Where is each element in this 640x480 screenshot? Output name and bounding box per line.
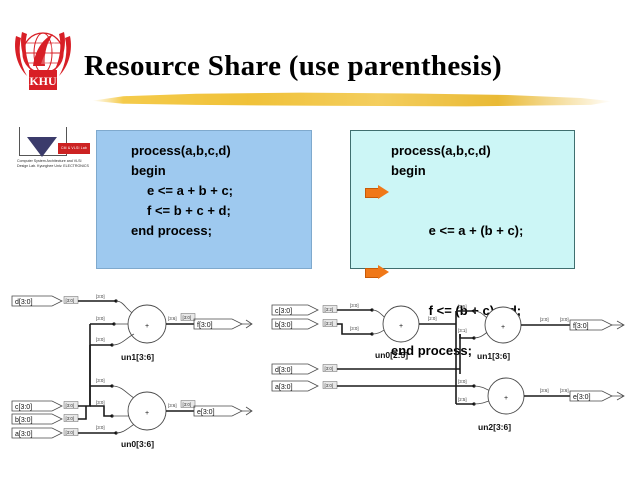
port-d: d[3:0] (12, 296, 62, 306)
adder-label: un1[3:6] (121, 352, 154, 362)
schematic-before: .wire{stroke:#1a1a1a;stroke-width:1.6;fi… (8, 288, 258, 460)
bus-label: [3:0] (66, 416, 75, 421)
code-line: process(a,b,c,d) (351, 141, 574, 161)
port-d: d[3:0] (272, 364, 318, 374)
code-line: begin (97, 161, 311, 181)
bus-label: [2:0] (428, 316, 437, 321)
bus-label: [3:6] (168, 403, 177, 408)
page-title: Resource Share (use parenthesis) (84, 50, 502, 83)
port-b: b[3:0] (272, 319, 318, 329)
adder-symbol: + (501, 324, 505, 331)
port-c: c[3:0] (272, 305, 318, 315)
bus-label: [3:2] (325, 321, 334, 326)
port-label: b[3:0] (15, 417, 33, 424)
port-f: f[3:0] (194, 319, 252, 329)
orange-arrow-icon (365, 185, 391, 198)
lab-logo-badge: CM & VLSI Lab (58, 143, 90, 154)
port-label: b[3:0] (275, 322, 293, 329)
bus-label: [3:0] (96, 400, 105, 405)
bus-label: [3:0] (560, 317, 569, 322)
port-f: f[3:0] (570, 320, 624, 330)
port-label: d[3:0] (275, 367, 293, 374)
port-label: f[3:0] (573, 323, 589, 330)
port-c: c[3:0] (12, 401, 62, 411)
orange-arrow-icon (365, 265, 391, 278)
adder-un2: + (488, 378, 524, 414)
adder-label: un1[3:6] (477, 351, 510, 361)
code-line: begin (351, 161, 574, 181)
bus-label: [3:0] (96, 316, 105, 321)
bus-label: [3:6] (540, 388, 549, 393)
adder-symbol: + (399, 323, 403, 330)
bus-label: [3:0] (66, 298, 75, 303)
adder-label: un2[3:6] (478, 422, 511, 432)
port-label: d[3:0] (15, 299, 33, 306)
port-label: e[3:0] (197, 409, 215, 416)
code-box-before: process(a,b,c,d) begin e <= a + b + c; f… (96, 130, 312, 269)
bus-label: [3:0] (183, 402, 192, 407)
bus-label: [2:5] (458, 304, 467, 309)
bus-label: [3:0] (96, 425, 105, 430)
adder-un1: + (485, 307, 521, 343)
lab-logo: CM & VLSI Lab Computer System Architectu… (17, 126, 91, 178)
bus-label: [2:0] (540, 317, 549, 322)
bus-label: [3:0] (458, 379, 467, 384)
bus-label: [3:0] (350, 303, 359, 308)
bus-label: [3:0] (350, 326, 359, 331)
adder-symbol: + (145, 323, 149, 330)
adder-label: un0[2:5] (375, 350, 408, 360)
bus-label: [3:6] (560, 388, 569, 393)
port-label: c[3:0] (275, 308, 292, 315)
adder-un0: + (128, 392, 166, 430)
bus-label: [3:0] (66, 430, 75, 435)
bus-label: [3:0] (325, 366, 334, 371)
code-box-after: process(a,b,c,d) begin e <= a + (b + c);… (350, 130, 575, 269)
code-line: end process; (97, 221, 311, 241)
schematic-after: .w2{stroke:#1a1a1a;stroke-width:1.6;fill… (268, 296, 640, 451)
port-b: b[3:0] (12, 414, 62, 424)
port-a: a[3:0] (12, 428, 62, 438)
port-e: e[3:0] (570, 391, 624, 401)
bus-label: [3:1] (458, 328, 467, 333)
lab-logo-caption: Computer System Architecture and VLSI De… (17, 159, 91, 169)
code-line: e <= a + (b + c); (351, 181, 574, 261)
port-label: f[3:0] (197, 322, 213, 329)
port-label: a[3:0] (275, 384, 293, 391)
adder-label: un0[3:6] (121, 439, 154, 449)
bus-label: [3:0] (66, 403, 75, 408)
code-line: f <= b + c + d; (97, 201, 311, 221)
port-a: a[3:0] (272, 381, 318, 391)
khu-logo-text: KHU (29, 74, 57, 88)
port-label: c[3:0] (15, 404, 32, 411)
title-underline-brush (92, 92, 612, 107)
khu-logo: KHU (11, 26, 75, 92)
port-label: a[3:0] (15, 431, 33, 438)
bus-label: [3:2] (325, 307, 334, 312)
bus-label: [2:5] (458, 397, 467, 402)
port-e: e[3:0] (194, 406, 252, 416)
bus-label: [3:0] (96, 294, 105, 299)
port-label: e[3:0] (573, 394, 591, 401)
adder-symbol: + (504, 395, 508, 402)
adder-symbol: + (145, 410, 149, 417)
adder-un0: + (383, 306, 419, 342)
adder-un1: + (128, 305, 166, 343)
slide-root: KHU Resource Share (use parenthesis) CM … (0, 0, 640, 480)
bus-label: [3:0] (96, 337, 105, 342)
bus-label: [3:0] (325, 383, 334, 388)
code-line-text: e <= a + (b + c); (429, 223, 524, 238)
bus-label: [3:0] (183, 315, 192, 320)
code-line: process(a,b,c,d) (97, 141, 311, 161)
lab-logo-badge-text: CM & VLSI Lab (58, 143, 90, 154)
code-line: e <= a + b + c; (97, 181, 311, 201)
bus-label: [3:0] (96, 378, 105, 383)
bus-label: [3:6] (168, 316, 177, 321)
